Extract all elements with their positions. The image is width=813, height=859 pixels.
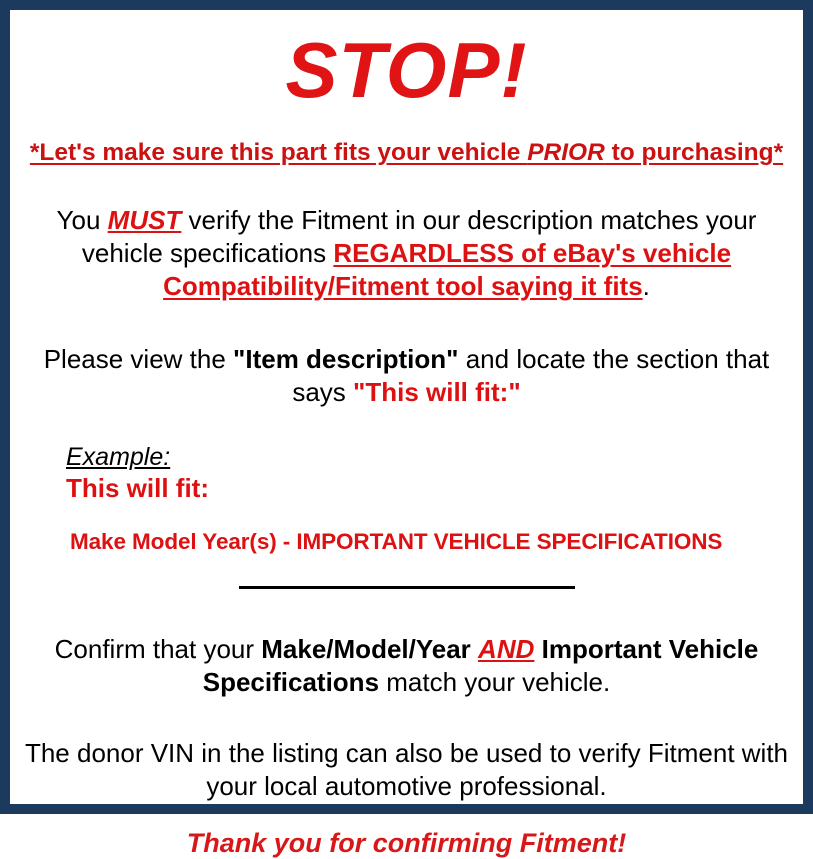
horizontal-rule xyxy=(239,586,575,589)
tagline-prefix: *Let's make sure this part fits your veh… xyxy=(30,139,527,166)
example-label-row: Example: xyxy=(66,443,793,471)
emphasis-this-will-fit: "This will fit:" xyxy=(353,377,521,407)
confirm-paragraph: Confirm that your Make/Model/Year AND Im… xyxy=(20,633,793,699)
must-paragraph-part3: . xyxy=(643,271,650,301)
example-fit-heading: This will fit: xyxy=(66,473,793,503)
fitment-notice-card: STOP! *Let's make sure this part fits yo… xyxy=(0,0,813,814)
view-paragraph-part1: Please view the xyxy=(44,344,233,374)
emphasis-make-model-year: Make/Model/Year xyxy=(261,634,471,664)
view-description-paragraph: Please view the "Item description" and l… xyxy=(20,343,793,409)
tagline: *Let's make sure this part fits your veh… xyxy=(20,138,793,168)
tagline-emphasis-prior: PRIOR xyxy=(527,139,605,166)
thank-you-message: Thank you for confirming Fitment! xyxy=(20,827,793,859)
vin-paragraph: The donor VIN in the listing can also be… xyxy=(20,737,793,803)
emphasis-item-description: "Item description" xyxy=(233,344,458,374)
emphasis-must: MUST xyxy=(108,205,182,235)
page-title: STOP! xyxy=(20,24,793,116)
confirm-space-1 xyxy=(471,634,478,664)
example-block: Example: This will fit: Make Model Year(… xyxy=(20,443,793,555)
emphasis-and: AND xyxy=(478,634,534,664)
must-paragraph-part1: You xyxy=(57,205,108,235)
must-verify-paragraph: You MUST verify the Fitment in our descr… xyxy=(20,204,793,303)
example-label: Example: xyxy=(66,443,170,471)
confirm-paragraph-part1: Confirm that your xyxy=(55,634,262,664)
notice-content: STOP! *Let's make sure this part fits yo… xyxy=(20,24,793,812)
divider-wrap xyxy=(20,579,793,597)
confirm-paragraph-part2: match your vehicle. xyxy=(379,667,610,697)
tagline-suffix: to purchasing* xyxy=(605,139,783,166)
confirm-space-2 xyxy=(534,634,541,664)
example-spec-line: Make Model Year(s) - IMPORTANT VEHICLE S… xyxy=(66,529,793,555)
